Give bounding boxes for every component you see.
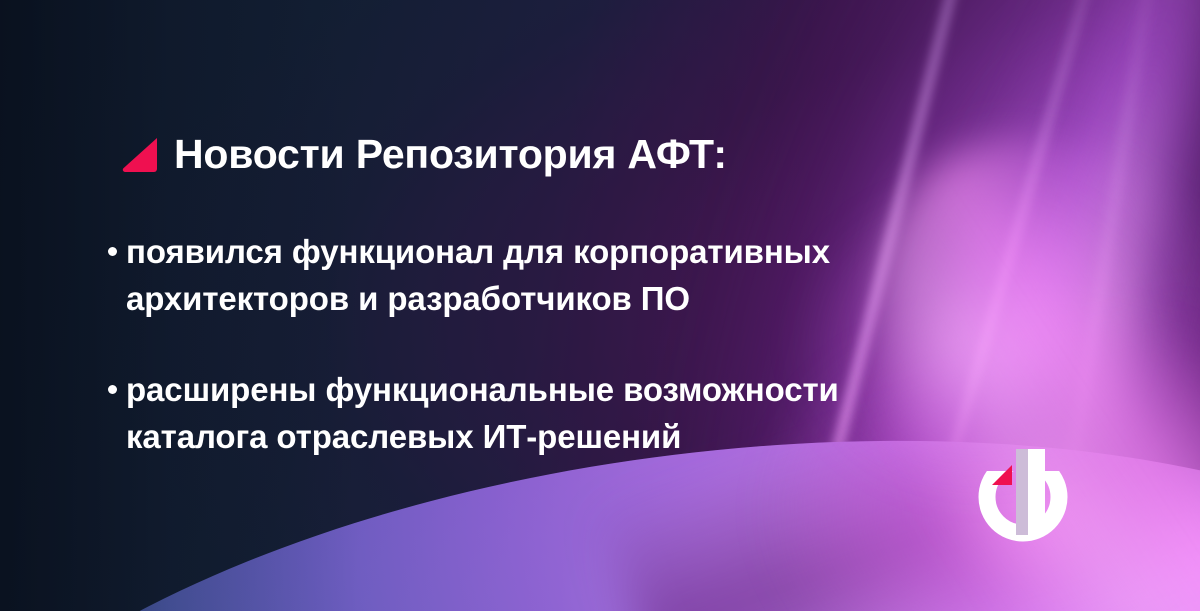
pink-triangle-icon <box>120 135 160 175</box>
bullet-text: расширены функциональные возможности кат… <box>126 366 839 460</box>
bullet-dot-icon <box>108 247 117 256</box>
bullet-dot-icon <box>108 385 117 394</box>
list-item: расширены функциональные возможности кат… <box>108 366 1008 460</box>
list-item: появился функционал для корпоративных ар… <box>108 228 1008 322</box>
news-banner: Новости Репозитория АФТ: появился функци… <box>0 0 1200 611</box>
bullet-line: каталога отраслевых ИТ-решений <box>126 413 839 460</box>
headline: Новости Репозитория АФТ: <box>120 134 727 175</box>
bullet-text: появился функционал для корпоративных ар… <box>126 228 830 322</box>
aft-repository-logo-icon <box>971 441 1075 545</box>
banner-content: Новости Репозитория АФТ: появился функци… <box>0 0 1200 611</box>
bullet-list: появился функционал для корпоративных ар… <box>108 228 1008 460</box>
headline-text: Новости Репозитория АФТ: <box>174 134 727 175</box>
bullet-line: расширены функциональные возможности <box>126 366 839 413</box>
bullet-line: появился функционал для корпоративных <box>126 228 830 275</box>
bullet-line: архитекторов и разработчиков ПО <box>126 275 830 322</box>
